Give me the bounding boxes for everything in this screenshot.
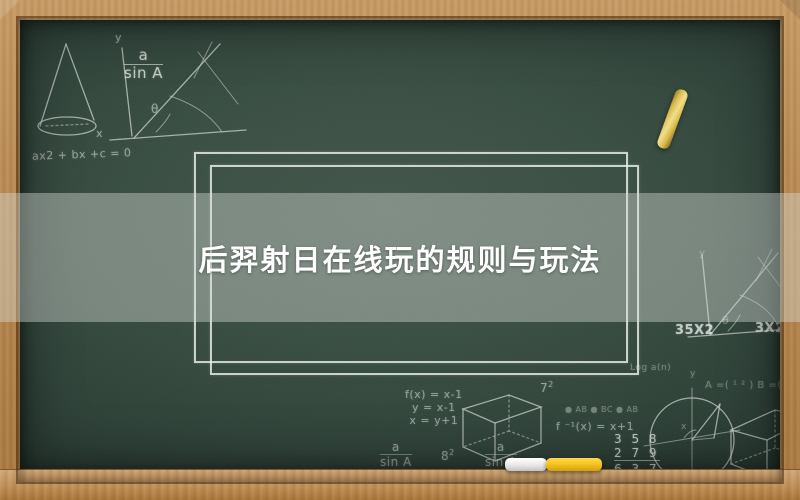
- page-title: 后羿射日在线玩的规则与玩法: [0, 193, 800, 322]
- frame-corner-top-left: [0, 0, 20, 20]
- frame-corner-top-right: [780, 0, 800, 20]
- chalkboard-banner: a sin A y x θ ax2 + bx +c = 0: [0, 0, 800, 500]
